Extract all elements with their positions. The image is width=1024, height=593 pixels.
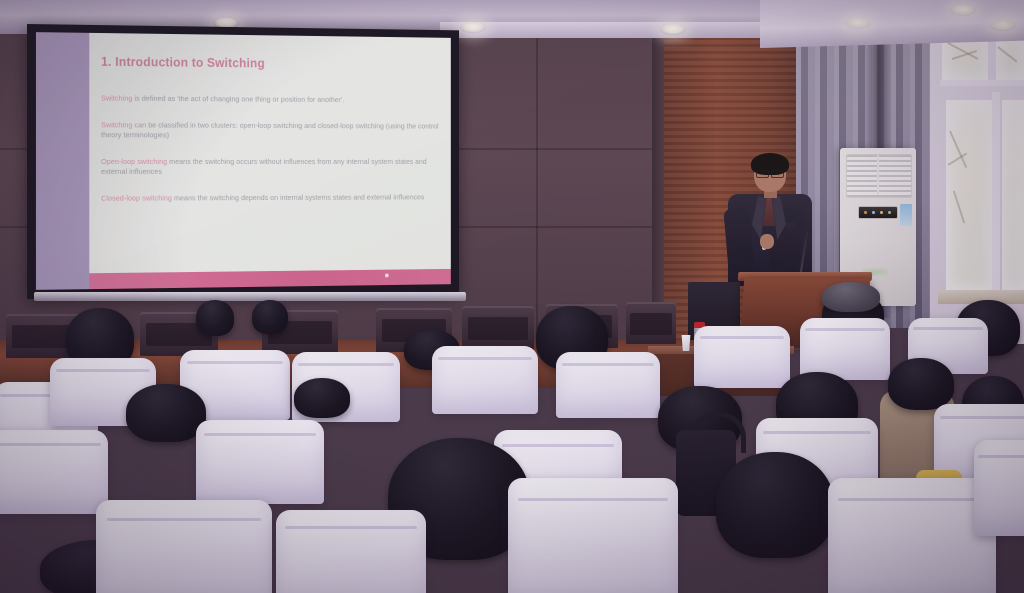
slide-paragraph-4: Closed-loop switching means the switchin… xyxy=(101,193,445,204)
window-mullion-h xyxy=(940,80,1024,86)
chair-cover xyxy=(276,510,426,593)
window-pane-right xyxy=(1002,100,1024,290)
slide-title: 1. Introduction to Switching xyxy=(101,55,445,72)
slide-keyword-4: Closed-loop switching xyxy=(101,193,172,202)
window-pane-main xyxy=(946,100,992,290)
slide-content: 1. Introduction to Switching Switching i… xyxy=(101,33,445,271)
audience-head xyxy=(126,384,206,442)
ac-led-icon xyxy=(888,211,891,214)
audience-head xyxy=(716,452,834,558)
ac-led-icon xyxy=(864,211,867,214)
slide-paragraph-1: Switching is defined as 'the act of chan… xyxy=(101,94,445,106)
empty-chair xyxy=(462,306,534,350)
ceiling-downlight-icon xyxy=(660,24,686,35)
presenter-arm-left xyxy=(723,207,754,273)
ceiling-downlight-icon xyxy=(845,18,871,29)
audience-head xyxy=(196,300,234,336)
ceiling-soffit xyxy=(760,0,1024,48)
presenter-glasses-icon xyxy=(756,170,784,176)
tree-branch-icon xyxy=(998,46,1018,62)
slide-paragraph-3: Open-loop switching means the switching … xyxy=(101,157,445,177)
tree-branch-icon xyxy=(953,191,965,224)
ac-led-icon xyxy=(872,211,875,214)
projection-screen-roller xyxy=(34,292,466,301)
audience-head xyxy=(294,378,350,418)
ac-grille-divider xyxy=(877,155,879,195)
slide-footer-dot xyxy=(385,273,389,277)
wall-seam-v1 xyxy=(536,26,538,356)
chair-cover xyxy=(556,352,660,418)
presentation-slide: 1. Introduction to Switching Switching i… xyxy=(36,32,451,290)
window-mullion-v xyxy=(992,92,1000,298)
chair-cover xyxy=(800,318,890,380)
ceiling-downlight-icon xyxy=(950,5,976,16)
projection-screen: 1. Introduction to Switching Switching i… xyxy=(27,24,459,299)
empty-chair xyxy=(626,302,676,344)
slide-keyword-2: Switching xyxy=(101,120,132,129)
ac-display-panel xyxy=(858,206,898,219)
lecture-hall-photo: 1. Introduction to Switching Switching i… xyxy=(0,0,1024,593)
slide-sidebar xyxy=(36,32,89,290)
chair-cover xyxy=(0,430,108,514)
chair-cover xyxy=(508,478,678,593)
audience-head xyxy=(822,282,880,312)
audience-head xyxy=(252,300,288,334)
chair-cover xyxy=(196,420,324,504)
slide-keyword-3: Open-loop switching xyxy=(101,157,167,166)
chair-cover xyxy=(96,500,272,593)
ac-led-icon xyxy=(880,211,883,214)
slide-paragraph-2-text: can be classified in two clusters: open-… xyxy=(101,120,439,139)
ceiling-downlight-icon xyxy=(990,20,1016,31)
chair-cover xyxy=(828,478,996,593)
slide-keyword-1: Switching xyxy=(101,94,132,103)
chair-cover xyxy=(694,326,790,388)
slide-footer-bar xyxy=(89,269,451,289)
chair-cover xyxy=(432,346,538,414)
ac-grille-icon xyxy=(846,154,912,198)
presenter-hand xyxy=(760,234,774,249)
ac-sticker xyxy=(900,204,912,226)
chair-cover xyxy=(974,440,1024,536)
slide-paragraph-2: Switching can be classified in two clust… xyxy=(101,120,445,141)
window-wall xyxy=(930,14,1024,344)
audience-head xyxy=(888,358,954,410)
slide-paragraph-1-text: is defined as 'the act of changing one t… xyxy=(132,94,344,104)
slide-paragraph-4-text: means the switching depends on internal … xyxy=(172,193,424,203)
ceiling-downlight-icon xyxy=(460,22,486,33)
